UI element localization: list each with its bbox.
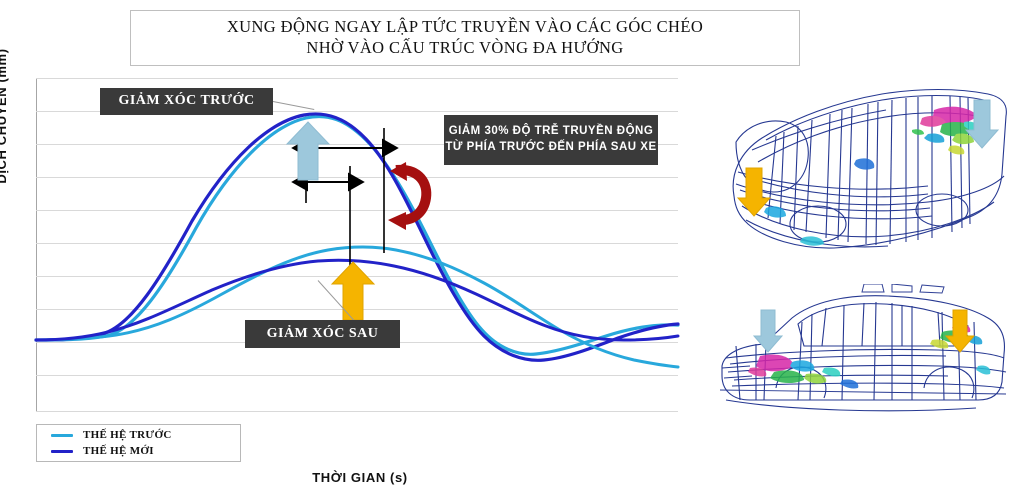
title-banner: XUNG ĐỘNG NGAY LẬP TỨC TRUYỀN VÀO CÁC GÓ…	[130, 10, 800, 66]
fea-mesh-side-profile	[706, 284, 1018, 434]
legend-swatch-new-generation	[51, 450, 73, 453]
callout-delay-line-1: GIẢM 30% ĐỘ TRỄ TRUYỀN ĐỘNG	[449, 124, 654, 140]
legend-item-new-generation: THẾ HỆ MỚI	[43, 443, 240, 459]
title-line-2: NHỜ VÀO CẤU TRÚC VÒNG ĐA HƯỚNG	[306, 38, 623, 59]
callout-delay-line-2: TỪ PHÍA TRƯỚC ĐẾN PHÍA SAU XE	[445, 140, 656, 156]
callout-front-damper-label: GIẢM XÓC TRƯỚC	[118, 92, 254, 111]
fea-mesh-rear-three-quarter	[706, 78, 1018, 268]
legend-label-new-generation: THẾ HỆ MỚI	[83, 445, 154, 457]
callout-rear-damper: GIẢM XÓC SAU	[245, 320, 400, 348]
rear-damper-arrow-icon	[330, 260, 376, 322]
front-damper-arrow-icon	[285, 120, 331, 182]
legend-label-old-generation: THẾ HỆ TRƯỚC	[83, 429, 172, 441]
chart-legend: THẾ HỆ TRƯỚC THẾ HỆ MỚI	[36, 424, 241, 462]
x-axis-title: THỜI GIAN (s)	[250, 470, 470, 485]
fea-body-frame-top	[706, 78, 1018, 268]
callout-delay-reduction: GIẢM 30% ĐỘ TRỄ TRUYỀN ĐỘNG TỪ PHÍA TRƯỚ…	[444, 115, 658, 165]
legend-swatch-old-generation	[51, 434, 73, 437]
callout-rear-damper-label: GIẢM XÓC SAU	[267, 325, 379, 344]
callout-front-damper: GIẢM XÓC TRƯỚC	[100, 88, 273, 115]
rotation-arrow-icon	[376, 156, 436, 236]
title-line-1: XUNG ĐỘNG NGAY LẬP TỨC TRUYỀN VÀO CÁC GÓ…	[227, 17, 703, 38]
fea-body-frame-bottom	[706, 284, 1018, 434]
legend-item-old-generation: THẾ HỆ TRƯỚC	[43, 427, 240, 443]
y-axis-title: DỊCH CHUYỂN (mm)	[0, 16, 9, 216]
